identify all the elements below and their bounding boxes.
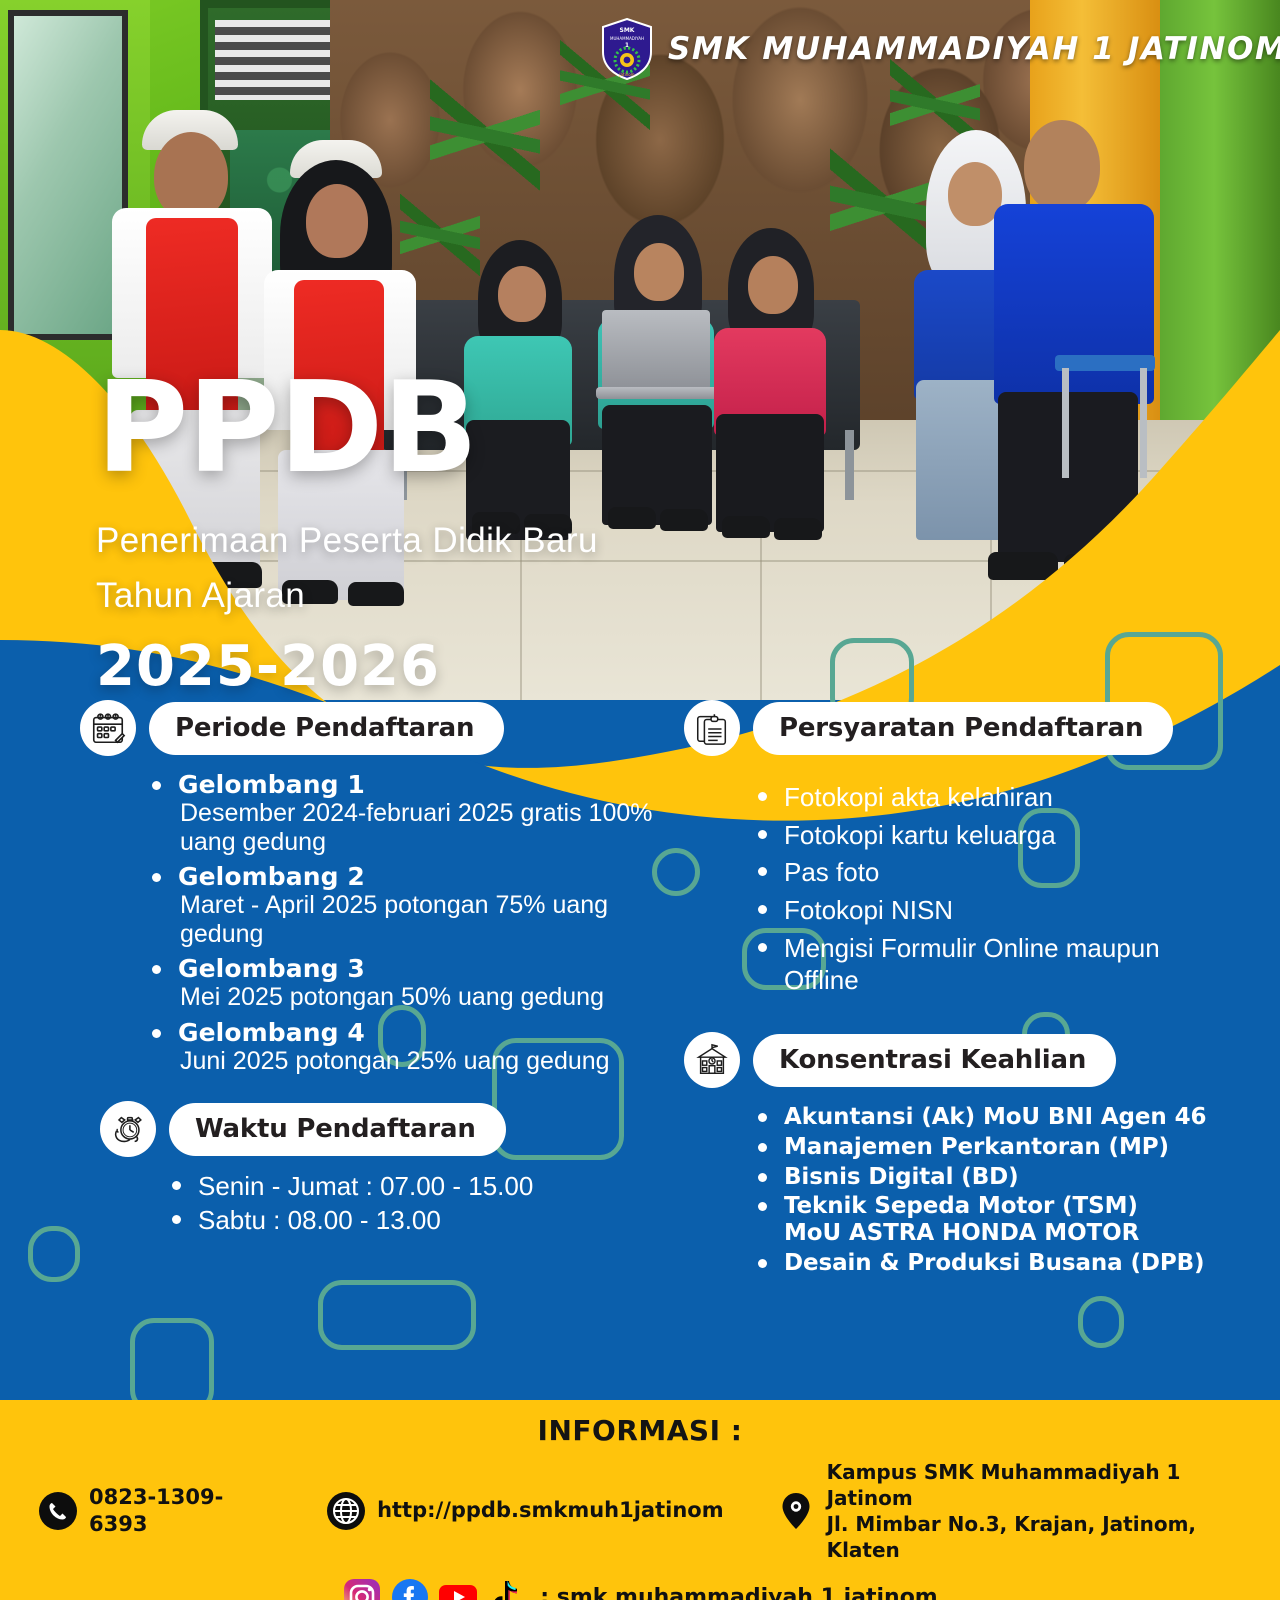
registration-hours-list: Senin - Jumat : 07.00 - 15.00 Sabtu : 08… — [198, 1171, 660, 1235]
registration-periods-list: Gelombang 1 Desember 2024-februari 2025 … — [178, 770, 660, 1075]
requirement-text: Fotokopi akta kelahiran — [784, 782, 1053, 812]
requirement-text: Fotokopi kartu keluarga — [784, 820, 1056, 850]
facebook-icon[interactable] — [390, 1577, 430, 1600]
section-title-pill: Konsentrasi Keahlian — [753, 1034, 1116, 1087]
bullet-icon — [152, 965, 161, 974]
contact-website[interactable]: http://ppdb.smkmuh1jatinom — [326, 1491, 724, 1531]
list-item: Senin - Jumat : 07.00 - 15.00 — [198, 1171, 660, 1202]
clipboard-documents-icon — [684, 700, 740, 756]
list-item: Gelombang 4 Juni 2025 potongan 25% uang … — [178, 1018, 660, 1076]
right-column: Persyaratan Pendaftaran Fotokopi akta ke… — [684, 700, 1244, 1279]
bullet-icon — [758, 1173, 767, 1182]
bullet-icon — [758, 792, 767, 801]
major-text: Manajemen Perkantoran (MP) — [784, 1134, 1169, 1160]
bullet-icon — [758, 1113, 767, 1122]
hours-text: Sabtu : 08.00 - 13.00 — [198, 1205, 441, 1235]
requirements-list: Fotokopi akta kelahiran Fotokopi kartu k… — [784, 782, 1244, 996]
section-header-waktu: Waktu Pendaftaran — [100, 1101, 660, 1157]
list-item: Desain & Produksi Busana (DPB) — [784, 1250, 1244, 1277]
calendar-icon — [80, 700, 136, 756]
wave-name: Gelombang 1 — [178, 770, 660, 799]
svg-text:Jatinom: Jatinom — [618, 72, 634, 77]
list-item: Manajemen Perkantoran (MP) — [784, 1134, 1244, 1161]
phone-number: 0823-1309-6393 — [89, 1484, 268, 1539]
list-item: Fotokopi kartu keluarga — [784, 820, 1244, 852]
bullet-icon — [758, 943, 767, 952]
footer-title: INFORMASI : — [0, 1400, 1280, 1447]
bullet-icon — [152, 781, 161, 790]
svg-text:MUHAMMADIYAH: MUHAMMADIYAH — [610, 36, 644, 41]
wave-detail: Desember 2024-februari 2025 gratis 100% … — [180, 799, 660, 856]
address-line2: Jl. Mimbar No.3, Krajan, Jatinom, Klaten — [827, 1512, 1196, 1562]
contact-address: Kampus SMK Muhammadiyah 1 Jatinom Jl. Mi… — [776, 1459, 1248, 1563]
section-header-persyaratan: Persyaratan Pendaftaran — [684, 700, 1244, 756]
wave-name: Gelombang 2 — [178, 862, 660, 891]
school-crest-icon: SMK MUHAMMADIYAH 1 Jatinom — [600, 18, 654, 80]
major-text: Desain & Produksi Busana (DPB) — [784, 1250, 1204, 1276]
website-url: http://ppdb.smkmuh1jatinom — [377, 1497, 724, 1524]
bullet-icon — [172, 1215, 181, 1224]
bullet-icon — [758, 905, 767, 914]
ppdb-poster: SMK MUHAMMADIYAH 1 Jatinom SMK MUHAMMADI… — [0, 0, 1280, 1600]
wave-name: Gelombang 3 — [178, 954, 660, 983]
section-title-pill: Waktu Pendaftaran — [169, 1103, 506, 1156]
list-item: Fotokopi NISN — [784, 895, 1244, 927]
major-text: Akuntansi (Ak) MoU BNI Agen 46 — [784, 1104, 1206, 1130]
hero-subtitle-line1: Penerimaan Peserta Didik Baru — [96, 513, 598, 568]
bullet-icon — [758, 1259, 767, 1268]
svg-text:SMK: SMK — [620, 27, 635, 34]
list-item: Mengisi Formulir Online maupun Offline — [784, 933, 1244, 996]
section-title-pill: Periode Pendaftaran — [149, 702, 504, 755]
bullet-icon — [758, 1143, 767, 1152]
bullet-icon — [758, 867, 767, 876]
major-text: Teknik Sepeda Motor (TSM) MoU ASTRA HOND… — [784, 1193, 1139, 1246]
major-text: Bisnis Digital (BD) — [784, 1164, 1019, 1190]
requirement-text: Pas foto — [784, 857, 879, 887]
school-name-text: SMK MUHAMMADIYAH 1 JATINOM — [668, 31, 1280, 67]
list-item: Gelombang 2 Maret - April 2025 potongan … — [178, 862, 660, 948]
bullet-icon — [152, 873, 161, 882]
bullet-icon — [758, 830, 767, 839]
wave-detail: Juni 2025 potongan 25% uang gedung — [180, 1047, 660, 1076]
list-item: Teknik Sepeda Motor (TSM) MoU ASTRA HOND… — [784, 1193, 1244, 1246]
requirement-text: Fotokopi NISN — [784, 895, 953, 925]
section-title-periode: Periode Pendaftaran — [175, 713, 474, 743]
requirement-text: Mengisi Formulir Online maupun Offline — [784, 933, 1160, 995]
section-title-persyaratan: Persyaratan Pendaftaran — [779, 713, 1143, 743]
list-item: Pas foto — [784, 857, 1244, 889]
tiktok-icon[interactable] — [486, 1577, 526, 1600]
phone-icon — [38, 1491, 78, 1531]
wave-detail: Mei 2025 potongan 50% uang gedung — [180, 983, 660, 1012]
bullet-icon — [758, 1202, 767, 1211]
page-title: PPDB — [96, 368, 598, 489]
list-item: Bisnis Digital (BD) — [784, 1164, 1244, 1191]
wave-detail: Maret - April 2025 potongan 75% uang ged… — [180, 891, 660, 948]
bullet-icon — [152, 1029, 161, 1038]
section-header-periode: Periode Pendaftaran — [80, 700, 660, 756]
content-area: Periode Pendaftaran Gelombang 1 Desember… — [0, 700, 1280, 1400]
globe-icon — [326, 1491, 366, 1531]
social-links-row: : smk muhammadiyah 1 jatinom — [0, 1577, 1280, 1600]
bullet-icon — [172, 1181, 181, 1190]
wave-name: Gelombang 4 — [178, 1018, 660, 1047]
section-title-waktu: Waktu Pendaftaran — [195, 1114, 476, 1144]
address-line1: Kampus SMK Muhammadiyah 1 Jatinom — [827, 1460, 1181, 1510]
instagram-icon[interactable] — [342, 1577, 382, 1600]
hero-title-block: PPDB Penerimaan Peserta Didik Baru Tahun… — [96, 368, 598, 699]
youtube-icon[interactable] — [438, 1577, 478, 1600]
left-column: Periode Pendaftaran Gelombang 1 Desember… — [80, 700, 660, 1238]
majors-list: Akuntansi (Ak) MoU BNI Agen 46 Manajemen… — [784, 1104, 1244, 1276]
stopwatch-in-hand-icon — [100, 1101, 156, 1157]
footer-info-bar: INFORMASI : 0823-1309-6393 — [0, 1400, 1280, 1600]
academic-year: 2025-2026 — [96, 634, 598, 699]
list-item: Akuntansi (Ak) MoU BNI Agen 46 — [784, 1104, 1244, 1131]
list-item: Gelombang 3 Mei 2025 potongan 50% uang g… — [178, 954, 660, 1012]
contact-phone[interactable]: 0823-1309-6393 — [38, 1484, 268, 1539]
section-header-konsentrasi: Konsentrasi Keahlian — [684, 1032, 1244, 1088]
hours-text: Senin - Jumat : 07.00 - 15.00 — [198, 1171, 533, 1201]
social-handle: : smk muhammadiyah 1 jatinom — [540, 1585, 937, 1600]
school-header: SMK MUHAMMADIYAH 1 Jatinom SMK MUHAMMADI… — [600, 18, 1280, 80]
list-item: Sabtu : 08.00 - 13.00 — [198, 1205, 660, 1236]
section-title-konsentrasi: Konsentrasi Keahlian — [779, 1045, 1086, 1075]
school-building-icon — [684, 1032, 740, 1088]
list-item: Gelombang 1 Desember 2024-februari 2025 … — [178, 770, 660, 856]
list-item: Fotokopi akta kelahiran — [784, 782, 1244, 814]
hero-subtitle-line2: Tahun Ajaran — [96, 568, 598, 623]
section-title-pill: Persyaratan Pendaftaran — [753, 702, 1173, 755]
location-pin-icon — [776, 1491, 816, 1531]
